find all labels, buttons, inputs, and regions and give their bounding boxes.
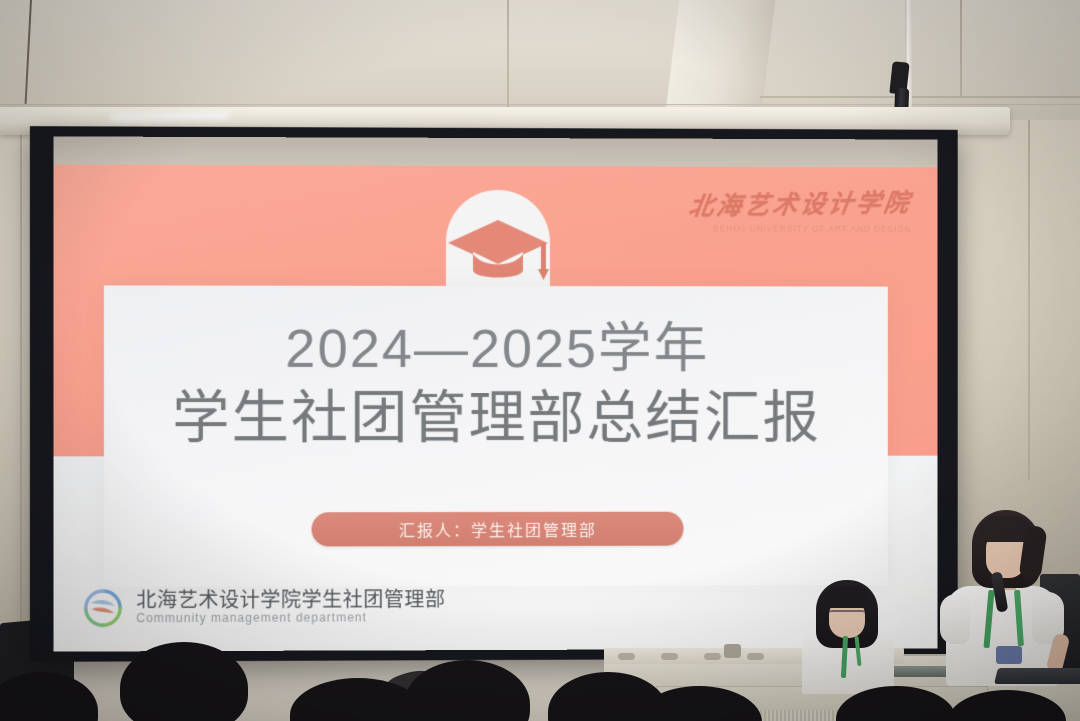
podium-socket bbox=[661, 653, 678, 660]
university-name-en: BEIHAI UNIVERSITY OF ART AND DESIGN bbox=[689, 223, 911, 234]
lecture-hall-photo: 北海艺术设计学院 BEIHAI UNIVERSITY OF ART AND DE… bbox=[0, 0, 1080, 721]
presenter-sleeve-left bbox=[940, 594, 970, 644]
department-logo-mark bbox=[80, 587, 126, 629]
glasses-icon bbox=[829, 610, 865, 620]
podium-socket bbox=[618, 653, 635, 660]
ceiling-wire bbox=[25, 0, 32, 104]
seated-fringe bbox=[824, 586, 870, 608]
presenter-badge: 汇报人：学生社团管理部 bbox=[312, 512, 684, 547]
presentation-slide: 北海艺术设计学院 BEIHAI UNIVERSITY OF ART AND DE… bbox=[53, 136, 937, 651]
seated-panelist bbox=[800, 580, 896, 690]
ceiling-seam bbox=[507, 0, 509, 120]
footer-name-en: Community management department bbox=[136, 612, 445, 626]
university-logo: 北海艺术设计学院 BEIHAI UNIVERSITY OF ART AND DE… bbox=[689, 185, 911, 234]
footer-name-cn: 北海艺术设计学院学生社团管理部 bbox=[136, 589, 445, 612]
slide-footer: 北海艺术设计学院学生社团管理部 Community management dep… bbox=[80, 586, 446, 629]
wall-seam bbox=[20, 120, 22, 640]
wall-seam bbox=[1028, 120, 1030, 480]
ceiling bbox=[0, 0, 1080, 122]
id-badge bbox=[996, 646, 1022, 664]
presenter-label: 汇报人：学生社团管理部 bbox=[399, 517, 597, 541]
ceiling-seam bbox=[960, 0, 962, 96]
slide-title-line1: 2024—2025学年 bbox=[53, 320, 937, 379]
laptop bbox=[994, 668, 1080, 684]
podium-socket bbox=[704, 653, 721, 660]
slide-title-block: 2024—2025学年 学生社团管理部总结汇报 bbox=[53, 320, 937, 455]
podium-knob bbox=[724, 644, 741, 658]
university-name-cn: 北海艺术设计学院 bbox=[687, 183, 915, 223]
swoosh-circle-icon bbox=[80, 587, 126, 629]
footer-text-group: 北海艺术设计学院学生社团管理部 Community management dep… bbox=[136, 589, 445, 626]
podium-socket bbox=[747, 653, 764, 660]
ceiling-seam bbox=[0, 104, 1080, 105]
standing-presenter bbox=[946, 510, 1064, 690]
ceiling-seam bbox=[760, 96, 1080, 98]
ceiling-beam bbox=[665, 0, 775, 118]
slide-title-line2: 学生社团管理部总结汇报 bbox=[53, 384, 937, 454]
slide-top-edge bbox=[53, 136, 937, 167]
